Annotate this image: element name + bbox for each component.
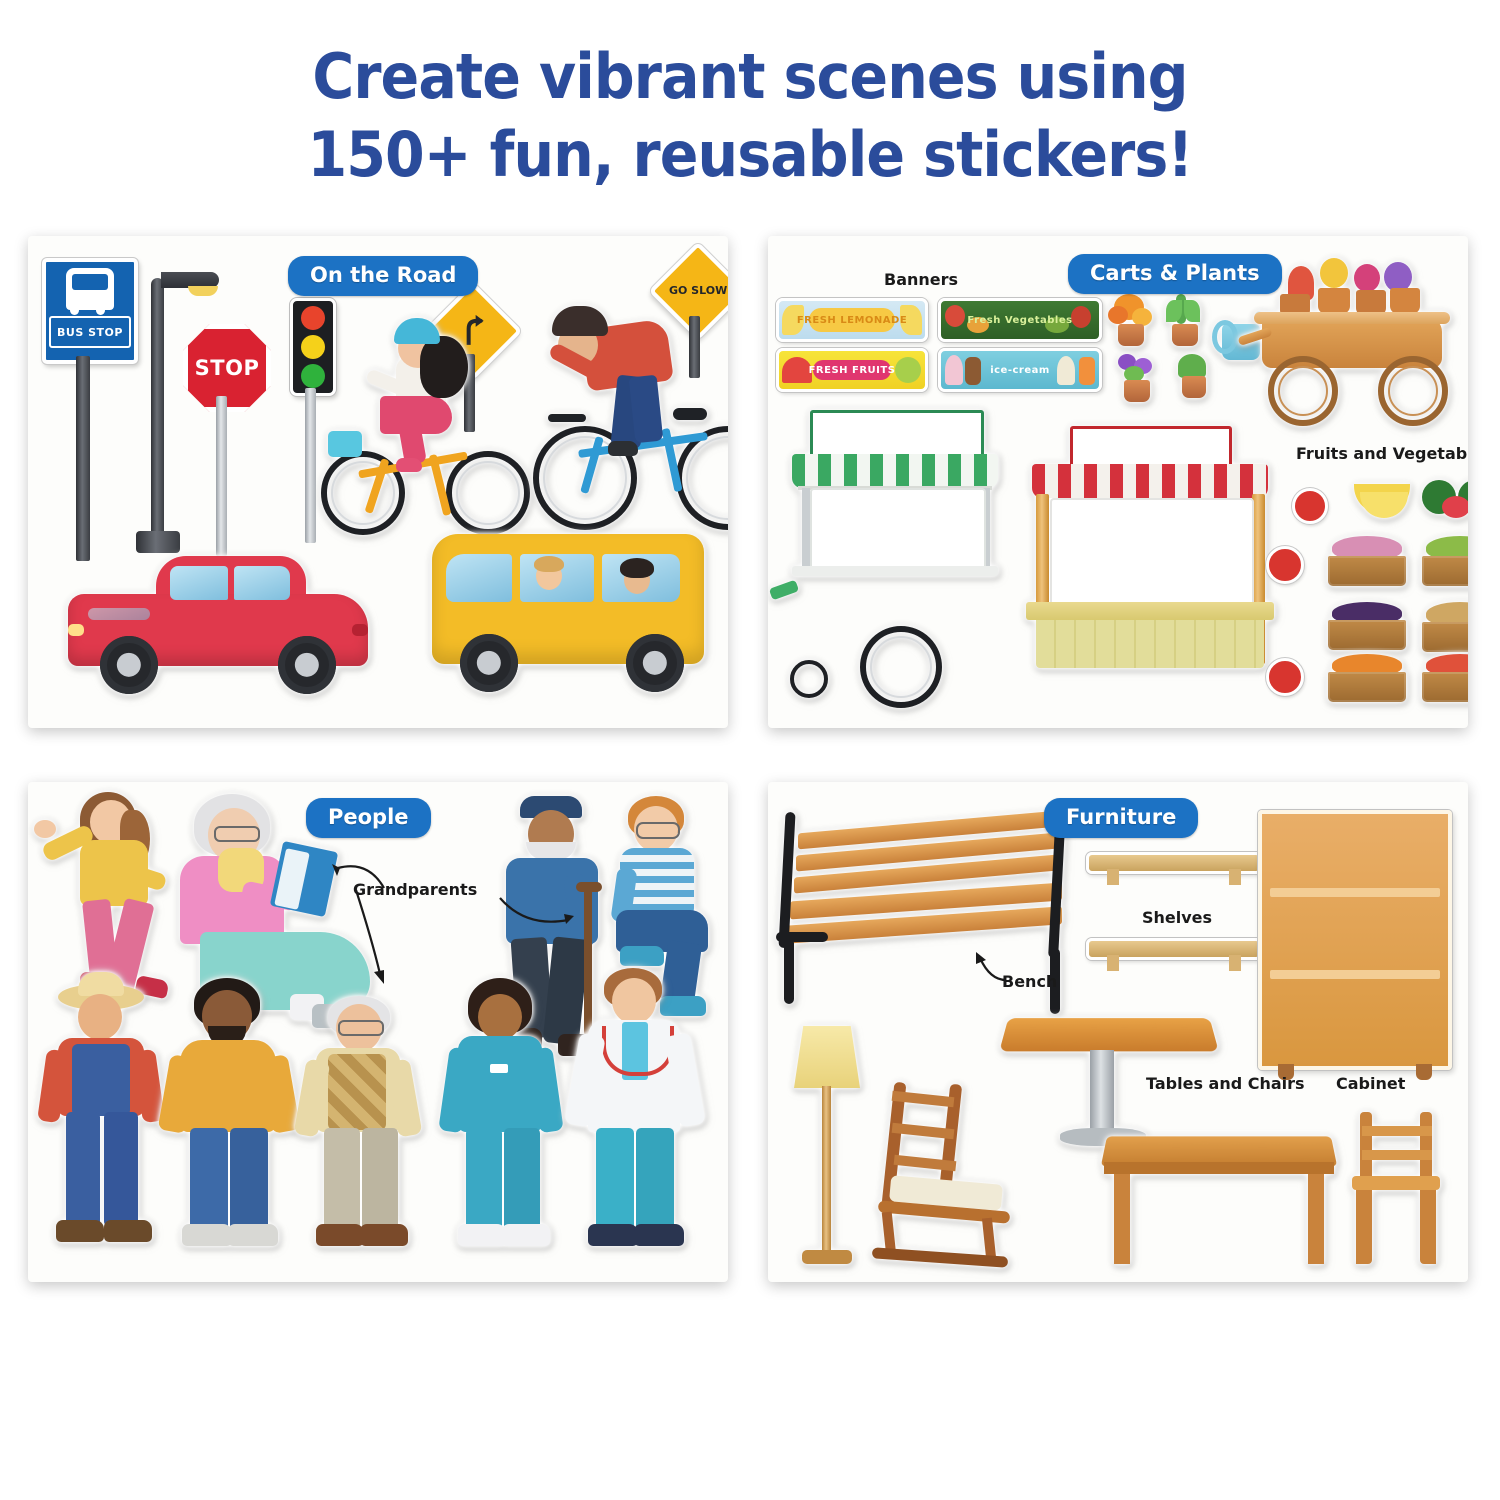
sticker-apple: [1292, 488, 1328, 524]
traffic-red-icon: [301, 306, 325, 330]
label-banners: Banners: [884, 270, 958, 289]
panel-people: People Grandparents: [28, 782, 728, 1282]
sticker-wall-shelf-top: [1086, 852, 1262, 874]
page-title-line-2: 150+ fun, reusable stickers!: [60, 116, 1440, 194]
arrow-to-grandfather-icon: [498, 890, 576, 932]
traffic-green-icon: [301, 364, 325, 388]
label-shelves: Shelves: [1142, 908, 1212, 927]
go-slow-text: GO SLOW: [669, 285, 727, 297]
page-title: Create vibrant scenes using 150+ fun, re…: [60, 38, 1440, 194]
right-turn-arrow-icon: [460, 315, 486, 348]
panel-furniture: Furniture Bench Shelves Tables and Chair…: [768, 782, 1468, 1282]
sticker-bookshelf-cabinet: [1258, 810, 1452, 1070]
sticker-banner-fresh-lemonade: FRESH LEMONADE: [776, 298, 928, 342]
panel-on-the-road: On the Road BUS STOP STOP: [28, 236, 728, 728]
label-cabinet: Cabinet: [1336, 1074, 1405, 1093]
sticker-banner-ice-cream: ice-cream: [938, 348, 1102, 392]
sticker-apple: [1266, 546, 1304, 584]
label-fruits-and-vegetables: Fruits and Vegetables: [1296, 444, 1468, 463]
bus-icon: [66, 268, 114, 310]
badge-people: People: [306, 798, 431, 838]
badge-on-the-road: On the Road: [288, 256, 478, 296]
sticker-wall-shelf-bottom: [1086, 938, 1262, 960]
bus-stop-label: BUS STOP: [49, 316, 131, 348]
traffic-yellow-icon: [301, 335, 325, 359]
stop-sign-text: STOP: [183, 324, 271, 412]
label-grandparents: Grandparents: [353, 880, 477, 899]
sticker-banner-fresh-vegetables: Fresh Vegetables: [938, 298, 1102, 342]
label-tables-and-chairs: Tables and Chairs: [1146, 1074, 1305, 1093]
sticker-banner-fresh-fruits: FRESH FRUITS: [776, 348, 928, 392]
arrow-to-elderly-man-icon: [346, 888, 400, 988]
label-bench: Bench: [1002, 972, 1057, 991]
panel-carts-and-plants: Carts & Plants Banners Fruits and Vegeta…: [768, 236, 1468, 728]
sticker-apple: [1266, 658, 1304, 696]
badge-carts-and-plants: Carts & Plants: [1068, 254, 1282, 294]
badge-furniture: Furniture: [1044, 798, 1198, 838]
page-title-line-1: Create vibrant scenes using: [60, 38, 1440, 116]
